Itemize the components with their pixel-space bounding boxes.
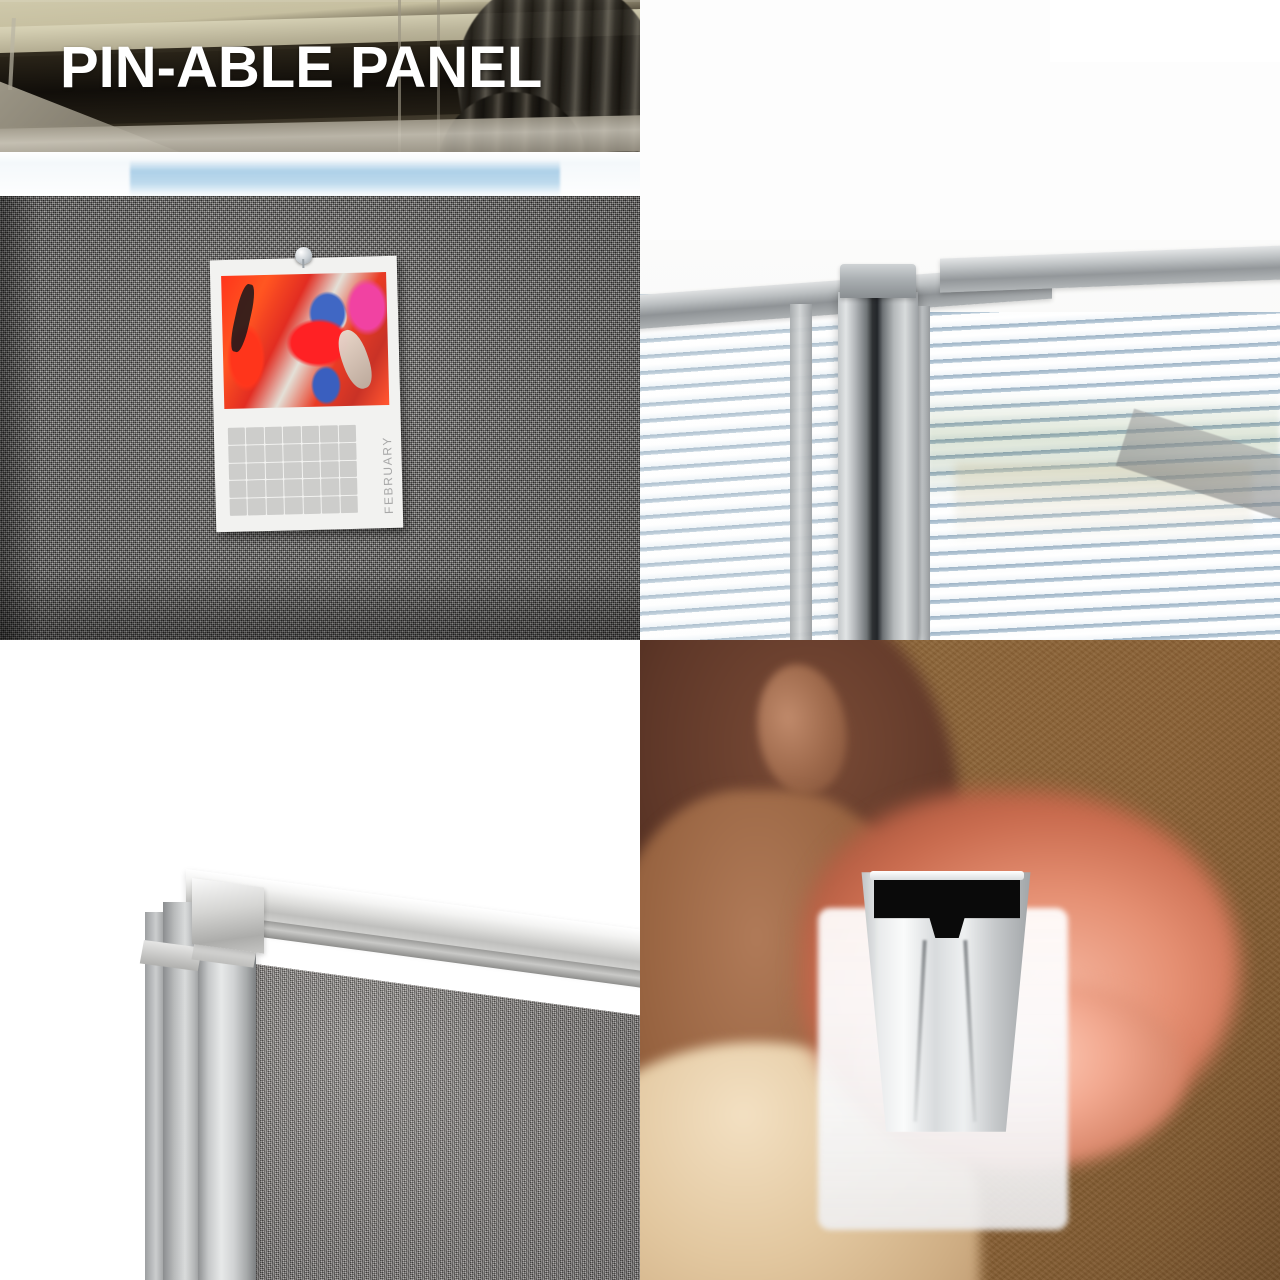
- aluminum-top-rail-right: [940, 245, 1280, 292]
- photo-white-corner: [1050, 0, 1280, 62]
- push-pin-icon: [294, 247, 311, 264]
- fabric-shadow-bottom: [0, 570, 640, 640]
- divider-fabric-panel: [247, 963, 640, 1280]
- aluminum-corner-joint: [192, 878, 264, 954]
- aluminum-corner-post: [838, 292, 918, 640]
- aluminum-post-cap: [840, 264, 916, 298]
- calendar-artwork: [221, 272, 389, 409]
- pinned-calendar: FEBRUARY: [210, 256, 404, 532]
- panel-customizable-configuration: CUSTOMIZABLE CONFIGURATION: [640, 0, 1280, 640]
- panel-top-rail: [0, 152, 640, 202]
- extrusion-top-highlight: [870, 871, 1024, 880]
- calendar-date-grid: [228, 425, 358, 516]
- aluminum-strut-left: [790, 304, 812, 640]
- feature-collage: FEBRUARY PIN-ABLE PANEL CUSTOMIZABLE CON…: [0, 0, 1280, 1280]
- panel-pin-able-panel: FEBRUARY PIN-ABLE PANEL: [0, 0, 640, 640]
- caption-pin-able-panel: PIN-ABLE PANEL: [60, 38, 620, 97]
- panel-toolless-assembly: TOOLLESS ASSEMBLY: [640, 640, 1280, 1280]
- panel-light-aircraft-aluminum-frame: LIGHT AIRCRAFT ALUMINUM FRAME: [0, 640, 640, 1280]
- calendar-month-label: FEBRUARY: [380, 436, 396, 514]
- frame-window-photo: [640, 240, 1280, 640]
